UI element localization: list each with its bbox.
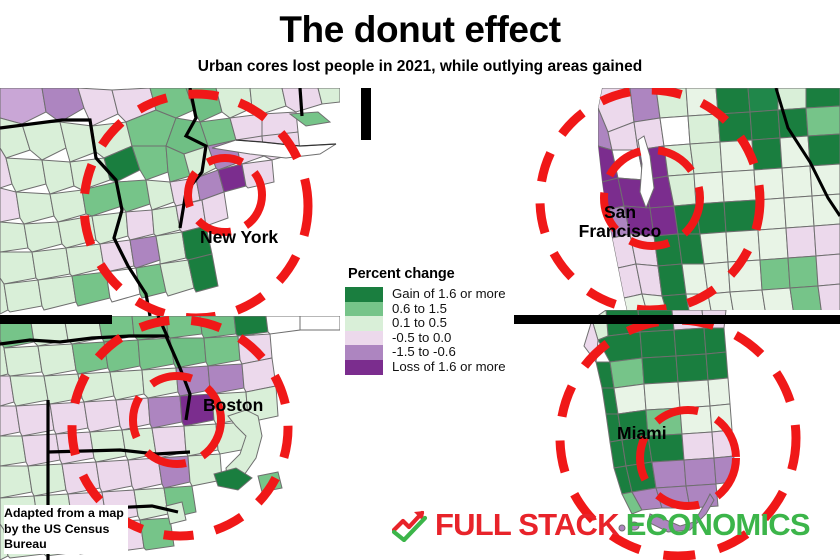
page-subtitle: Urban cores lost people in 2021, while o…	[0, 57, 840, 77]
source-credit: Adapted from a map by the US Census Bure…	[4, 505, 128, 554]
legend-item: -1.5 to -0.6	[345, 345, 520, 360]
divider-vertical	[361, 88, 371, 140]
map-quadrant-san-francisco	[510, 88, 840, 316]
legend-swatch	[345, 345, 383, 360]
legend-item: 0.6 to 1.5	[345, 302, 520, 317]
legend-swatch	[345, 331, 383, 346]
legend-label: 0.1 to 0.5	[392, 316, 447, 331]
logo-text-secondary: ECONOMICS	[626, 508, 810, 542]
legend-swatch	[345, 287, 383, 302]
legend-swatch	[345, 302, 383, 317]
legend-swatch	[345, 360, 383, 375]
logo-text-primary: FULL STACK	[435, 508, 619, 542]
city-label-san-francisco: San Francisco	[570, 203, 670, 241]
legend-swatch	[345, 316, 383, 331]
legend-item: -0.5 to 0.0	[345, 331, 520, 346]
city-label-boston: Boston	[203, 396, 263, 415]
chart-arrow-icon	[392, 508, 432, 542]
legend-title: Percent change	[348, 266, 520, 282]
legend-label: 0.6 to 1.5	[392, 302, 447, 317]
legend-item: Gain of 1.6 or more	[345, 287, 520, 302]
legend-label: -1.5 to -0.6	[392, 345, 456, 360]
legend-item: 0.1 to 0.5	[345, 316, 520, 331]
new-york-choropleth	[0, 88, 340, 316]
page-title: The donut effect	[0, 8, 840, 52]
legend-label: Gain of 1.6 or more	[392, 287, 506, 302]
divider-horizontal-right	[514, 315, 840, 324]
brand-logo[interactable]: FULL STACK ECONOMICS	[392, 508, 810, 542]
legend-item: Loss of 1.6 or more	[345, 360, 520, 375]
legend-label: Loss of 1.6 or more	[392, 360, 506, 375]
city-label-new-york: New York	[200, 228, 278, 247]
infographic-root: The donut effect Urban cores lost people…	[0, 0, 840, 560]
legend: Percent change Gain of 1.6 or more 0.6 t…	[345, 266, 520, 375]
map-quadrant-new-york	[0, 88, 340, 316]
city-label-miami: Miami	[617, 424, 667, 443]
header: The donut effect Urban cores lost people…	[0, 0, 840, 88]
divider-horizontal-left	[0, 315, 112, 324]
legend-label: -0.5 to 0.0	[392, 331, 451, 346]
san-francisco-choropleth	[510, 88, 840, 316]
